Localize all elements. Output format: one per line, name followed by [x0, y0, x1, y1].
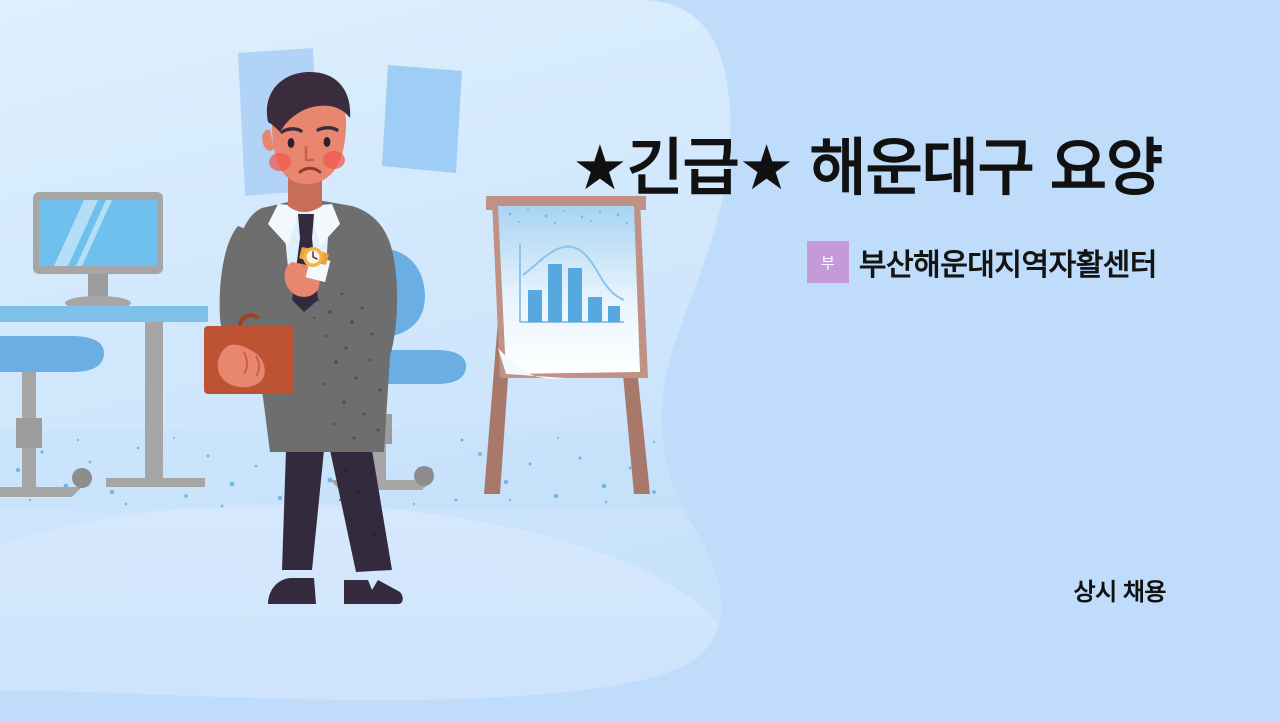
office-illustration	[0, 0, 1280, 722]
cheek-blush-left	[269, 153, 291, 171]
chart-bar	[588, 297, 602, 322]
monitor-screen	[39, 200, 157, 266]
chart-bar	[528, 290, 542, 322]
desk-top	[0, 306, 208, 322]
chair-left-cylinder	[16, 418, 42, 448]
chair-right-wheel	[414, 466, 434, 486]
cheek-blush-right	[323, 151, 345, 169]
eye-left	[288, 138, 295, 148]
chair-left-wheel	[72, 468, 92, 488]
eye-right	[324, 137, 331, 147]
chair-left-base	[0, 487, 82, 497]
chair-left-stem	[22, 448, 36, 490]
job-posting-poster: ★긴급★ 해운대구 요양 부 부산해운대지역자활센터 상시 채용	[0, 0, 1280, 722]
chart-bar	[568, 268, 582, 322]
desk-leg-column	[145, 322, 163, 480]
wall-poster-small	[382, 65, 462, 173]
desk-leg-foot	[106, 478, 205, 487]
chart-bar	[608, 306, 620, 322]
chair-left-seat	[0, 336, 104, 372]
chart-bar	[548, 264, 562, 322]
